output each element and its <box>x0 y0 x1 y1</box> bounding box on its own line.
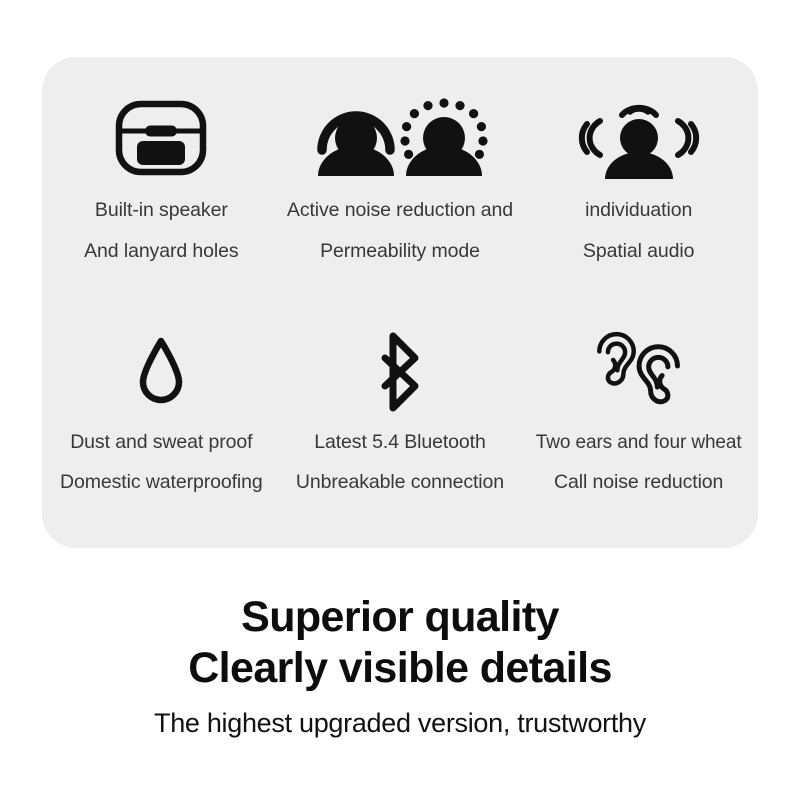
feature-item-spatial-audio: individuation Spatial audio <box>519 57 758 303</box>
feature-caption-line2: Spatial audio <box>583 242 694 262</box>
noise-reduction-persons-icon <box>304 95 496 181</box>
two-ears-icon <box>585 331 693 413</box>
spatial-audio-person-icon <box>578 95 700 181</box>
feature-caption-line1: individuation <box>585 201 692 221</box>
bluetooth-icon <box>369 331 431 413</box>
headline-line2: Clearly visible details <box>0 643 800 694</box>
features-grid: Built-in speaker And lanyard holes <box>42 57 758 548</box>
feature-item-bluetooth: Latest 5.4 Bluetooth Unbreakable connect… <box>281 303 520 549</box>
feature-caption-line1: Active noise reduction and <box>287 201 513 221</box>
charging-case-icon <box>113 95 209 181</box>
feature-caption-line2: Unbreakable connection <box>296 473 504 493</box>
headline-subtitle: The highest upgraded version, trustworth… <box>0 707 800 739</box>
feature-item-dust-sweat-proof: Dust and sweat proof Domestic waterproof… <box>42 303 281 549</box>
feature-caption-line2: Call noise reduction <box>554 473 723 493</box>
headline-block: Superior quality Clearly visible details… <box>0 592 800 739</box>
features-panel: Built-in speaker And lanyard holes <box>42 57 758 548</box>
feature-caption-line2: Domestic waterproofing <box>60 473 263 493</box>
feature-caption-line1: Dust and sweat proof <box>70 433 252 453</box>
headline-line1: Superior quality <box>0 592 800 643</box>
feature-caption-line2: And lanyard holes <box>84 242 238 262</box>
feature-caption-line1: Two ears and four wheat <box>536 433 742 452</box>
feature-item-built-in-speaker: Built-in speaker And lanyard holes <box>42 57 281 303</box>
product-feature-infographic: Built-in speaker And lanyard holes <box>0 0 800 800</box>
water-droplet-icon <box>134 331 188 413</box>
feature-item-active-noise-reduction: Active noise reduction and Permeability … <box>281 57 520 303</box>
feature-caption-line2: Permeability mode <box>320 242 480 262</box>
feature-caption-line1: Built-in speaker <box>95 201 228 221</box>
feature-item-two-ears: Two ears and four wheat Call noise reduc… <box>519 303 758 549</box>
feature-caption-line1: Latest 5.4 Bluetooth <box>314 433 485 453</box>
